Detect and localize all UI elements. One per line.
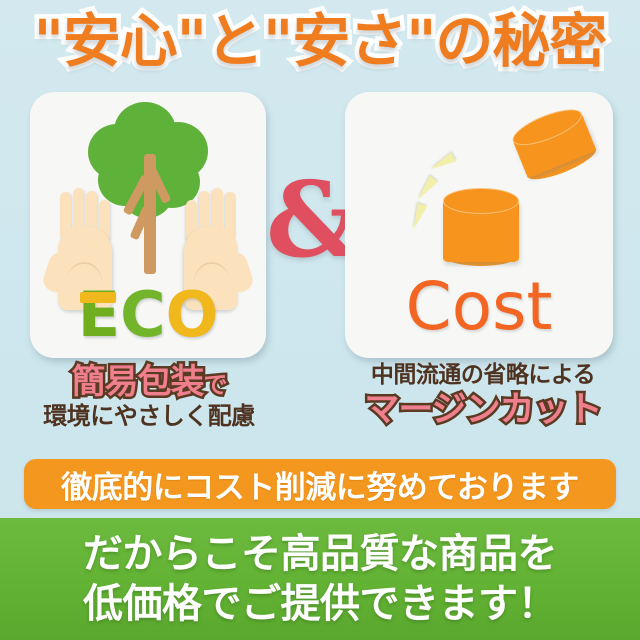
footer-line-1: だからこそ高品質な商品を xyxy=(83,529,557,579)
eco-caption: 簡易包装で 環境にやさしく配慮 xyxy=(14,362,284,431)
eco-letter-e-highlight xyxy=(80,292,116,303)
sparkle-icon xyxy=(428,152,456,173)
page-title: "安心"と"安さ"の秘密 xyxy=(0,8,640,75)
eco-caption-primary: 簡易包装で xyxy=(14,362,284,402)
tilted-coin-stack-icon xyxy=(508,102,599,185)
footer-line-2: 低価格でご提供できます！ xyxy=(83,579,557,629)
eco-letter-c: C xyxy=(120,278,166,351)
cost-reduction-banner-text: 徹底的にコスト削減に努めております xyxy=(61,462,579,507)
ampersand-separator: & xyxy=(266,168,350,272)
eco-caption-secondary: 環境にやさしく配慮 xyxy=(14,402,284,431)
cost-caption-secondary: 中間流通の省略による xyxy=(340,362,626,390)
eco-letter-o: O xyxy=(166,278,219,351)
cost-wordmark: Cost xyxy=(345,274,613,340)
eco-letter-e: E xyxy=(78,278,120,351)
eco-caption-primary-suffix: で xyxy=(204,371,227,399)
sparkle-icon xyxy=(414,176,438,203)
cost-caption: 中間流通の省略による マージンカット xyxy=(340,362,626,431)
promo-banner: "安心"と"安さ"の秘密 xyxy=(0,0,640,640)
cost-caption-primary: マージンカット xyxy=(340,390,626,431)
cost-reduction-banner: 徹底的にコスト削減に努めております xyxy=(24,459,616,509)
coin-stack-icon xyxy=(443,188,519,266)
eco-caption-primary-main: 簡易包装 xyxy=(72,362,204,402)
eco-wordmark: ECO xyxy=(30,284,266,346)
footer-message: だからこそ高品質な商品を 低価格でご提供できます！ xyxy=(0,518,640,640)
cost-card: Cost xyxy=(345,92,613,358)
eco-card: ECO xyxy=(30,92,266,358)
sparkle-icon xyxy=(409,203,427,231)
